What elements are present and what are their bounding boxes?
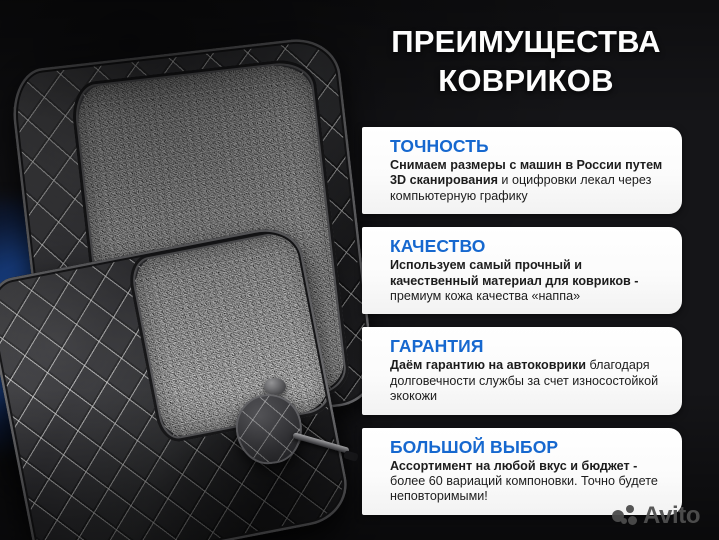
feature-card-quality: КАЧЕСТВО Используем самый прочный и каче… (362, 227, 682, 314)
feature-card-body-bold: Ассортимент на любой вкус и бюджет - (390, 459, 637, 473)
feature-card-body-bold: Даём гарантию на автоковрики (390, 358, 586, 372)
avito-dot-bottom-right (628, 516, 637, 525)
avito-wordmark: Avito (643, 504, 700, 528)
feature-card-warranty: ГАРАНТИЯ Даём гарантию на автоковрики бл… (362, 327, 682, 414)
feature-card-heading: БОЛЬШОЙ ВЫБОР (390, 437, 666, 458)
avito-dot-top-right (626, 505, 634, 513)
feature-card-list: ТОЧНОСТЬ Снимаем размеры с машин в Росси… (362, 127, 682, 515)
page-title: ПРЕИМУЩЕСТВА КОВРИКОВ (338, 22, 714, 100)
feature-card-heading: ТОЧНОСТЬ (390, 136, 666, 157)
feature-card-body-regular: более 60 вариаций компоновки. Точно буде… (390, 474, 658, 503)
feature-card-body: Ассортимент на любой вкус и бюджет - бол… (390, 459, 666, 505)
feature-card-accuracy: ТОЧНОСТЬ Снимаем размеры с машин в Росси… (362, 127, 682, 214)
page-title-line-2: КОВРИКОВ (338, 61, 714, 100)
feature-card-body: Снимаем размеры с машин в России путем 3… (390, 158, 666, 204)
avito-logo-icon (612, 505, 638, 527)
avito-watermark: Avito (612, 504, 700, 528)
promo-banner: ПРЕИМУЩЕСТВА КОВРИКОВ ТОЧНОСТЬ Снимаем р… (0, 0, 719, 540)
feature-card-heading: КАЧЕСТВО (390, 236, 666, 257)
page-title-line-1: ПРЕИМУЩЕСТВА (338, 22, 714, 61)
feature-card-body: Даём гарантию на автоковрики благодаря д… (390, 358, 666, 404)
avito-dot-small (621, 518, 627, 524)
feature-card-body-bold: Используем самый прочный и качественный … (390, 258, 638, 287)
feature-card-body-regular: премиум кожа качества «наппа» (390, 289, 580, 303)
feature-card-body: Используем самый прочный и качественный … (390, 258, 666, 304)
feature-card-selection: БОЛЬШОЙ ВЫБОР Ассортимент на любой вкус … (362, 428, 682, 515)
feature-card-heading: ГАРАНТИЯ (390, 336, 666, 357)
